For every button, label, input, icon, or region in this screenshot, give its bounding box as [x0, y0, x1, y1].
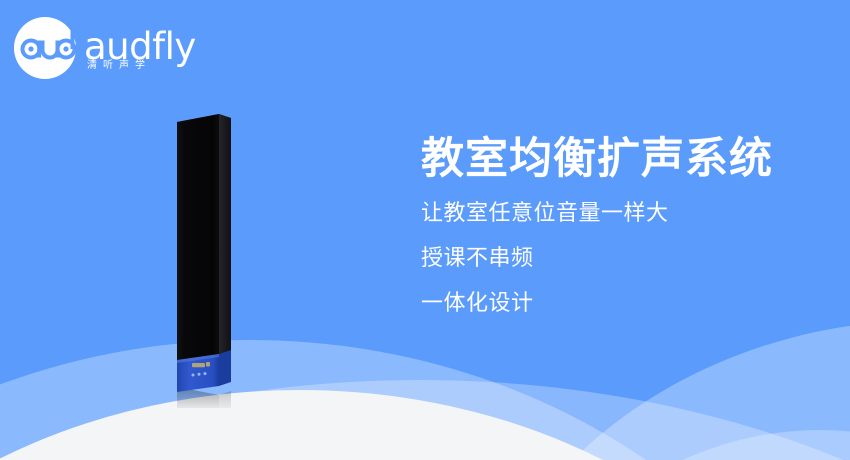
wave-layer-front-white: [0, 390, 850, 460]
feature-list: 让教室任意位音量一样大 授课不串频 一体化设计: [421, 202, 821, 316]
audfly-circle-logo-icon: [14, 17, 76, 79]
logo-aud-glyph: [14, 17, 76, 79]
list-item: 授课不串频: [421, 247, 821, 271]
page-title: 教室均衡扩声系统: [421, 133, 821, 185]
speaker-base-side: [219, 350, 231, 386]
brand-wordmark-subtitle: 清听声学: [87, 60, 151, 71]
wave-layer-right-hill: [490, 430, 850, 460]
list-item: 一体化设计: [421, 292, 821, 316]
promo-banner: audfly 清听声学: [0, 0, 850, 460]
wave-layer-mid: [0, 380, 850, 460]
speaker-column-icon: [171, 108, 247, 393]
list-item: 让教室任意位音量一样大: [421, 202, 821, 226]
banner-copy: 教室均衡扩声系统 让教室任意位音量一样大 授课不串频 一体化设计: [421, 133, 821, 316]
speaker-front-face: [177, 114, 219, 388]
brand-logo[interactable]: audfly 清听声学: [14, 15, 196, 81]
wave-layer-far-left: [0, 340, 850, 460]
brand-wordmark: audfly 清听声学: [84, 29, 196, 67]
wave-layer-far-right: [460, 320, 850, 460]
speaker-side-face: [219, 114, 231, 382]
